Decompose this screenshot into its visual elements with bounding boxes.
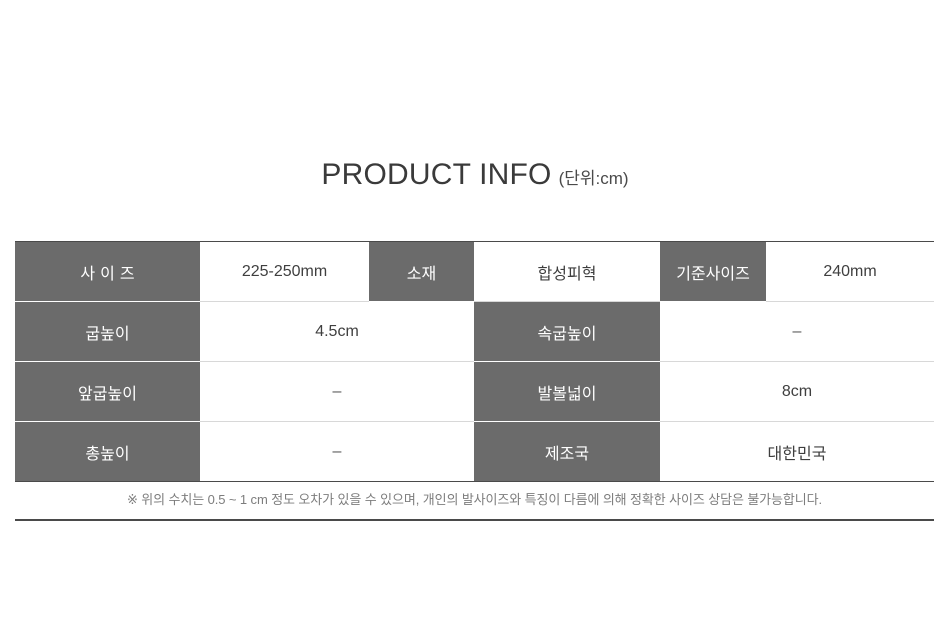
spec-value-base-size: 240mm [766,242,934,302]
spec-label-material: 소재 [369,242,474,302]
spec-label-size: 사이즈 [15,242,200,302]
product-info-page: PRODUCT INFO(단위:cm) 사이즈 225-250mm 소재 합성피… [0,0,950,644]
table-row: 굽높이 4.5cm 속굽높이 – [15,302,934,362]
page-title-main: PRODUCT INFO [321,158,551,191]
spec-label-foot-width: 발볼넓이 [474,362,660,422]
spec-value-front-heel-height: – [200,362,474,422]
spec-label-country: 제조국 [474,422,660,482]
spec-label-inner-heel-height: 속굽높이 [474,302,660,362]
spec-label-front-heel-height: 앞굽높이 [15,362,200,422]
spec-value-size: 225-250mm [200,242,369,302]
spec-label-base-size: 기준사이즈 [660,242,766,302]
table-row: 사이즈 225-250mm 소재 합성피혁 기준사이즈 240mm [15,242,934,302]
spec-value-material: 합성피혁 [474,242,660,302]
product-spec-table: 사이즈 225-250mm 소재 합성피혁 기준사이즈 240mm 굽높이 4.… [15,241,934,482]
spec-label-total-height: 총높이 [15,422,200,482]
table-row: 총높이 – 제조국 대한민국 [15,422,934,482]
spec-value-heel-height: 4.5cm [200,302,474,362]
spec-value-country: 대한민국 [660,422,934,482]
spec-value-total-height: – [200,422,474,482]
footnote-bottom-rule [15,519,934,521]
table-row: 앞굽높이 – 발볼넓이 8cm [15,362,934,422]
page-title-unit: (단위:cm) [559,169,629,188]
spec-label-heel-height: 굽높이 [15,302,200,362]
spec-value-foot-width: 8cm [660,362,934,422]
spec-value-inner-heel-height: – [660,302,934,362]
size-disclaimer-note: ※ 위의 수치는 0.5 ~ 1 cm 정도 오차가 있을 수 있으며, 개인의… [15,489,934,508]
page-title: PRODUCT INFO(단위:cm) [0,158,950,192]
